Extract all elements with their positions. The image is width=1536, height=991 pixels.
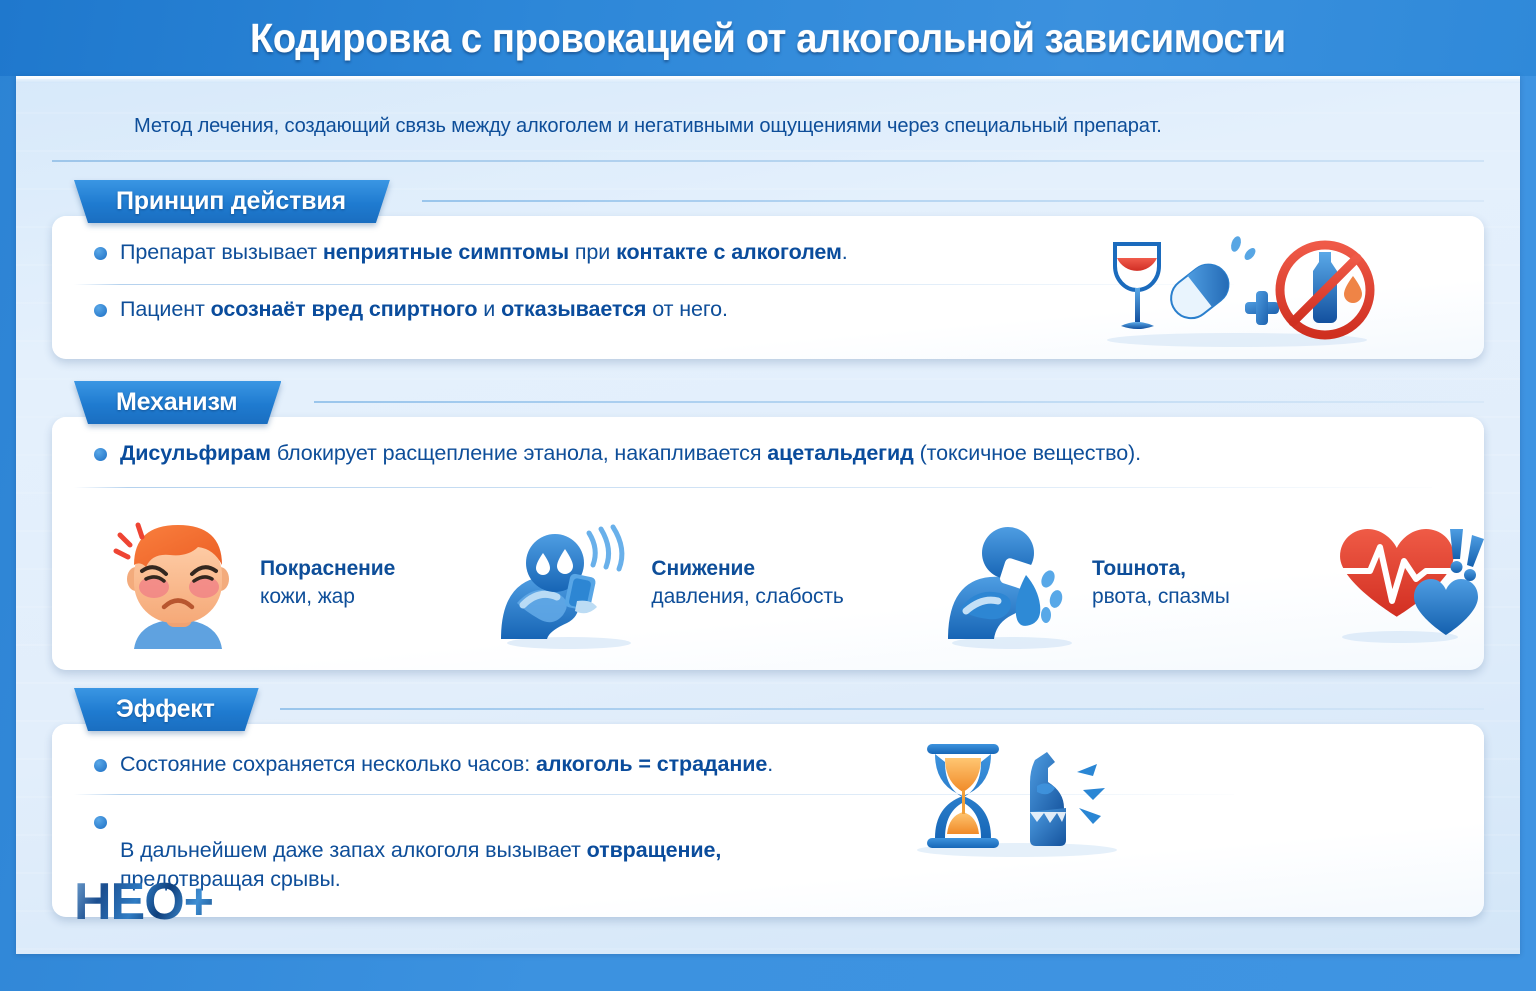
symptom-nausea: Тошнота, рвота, спазмы (942, 517, 1230, 649)
card-principle: Препарат вызывает неприятные симптомы пр… (52, 216, 1484, 359)
principle-icon-group (1087, 230, 1377, 350)
bullet-dot-icon (94, 304, 107, 317)
ribbon-effect: Эффект (74, 688, 1484, 731)
wine-glass-icon (1115, 244, 1159, 329)
page-title: Кодировка с провокацией от алкогольной з… (250, 15, 1286, 62)
plus-icon (1245, 291, 1279, 325)
infographic-poster: Кодировка с провокацией от алкогольной з… (0, 0, 1536, 991)
dizzy-person-icon (493, 517, 641, 649)
symptom-heart (1328, 517, 1484, 649)
section-mechanism: Механизм Дисульфирам блокирует расщеплен… (52, 381, 1484, 670)
bullet-divider (74, 487, 1432, 488)
sparkle-icon (1229, 235, 1257, 262)
section-principle: Принцип действия Препарат вызывает непри… (52, 180, 1484, 359)
symptom-label-dizzy: Снижение давления, слабость (651, 555, 843, 610)
broken-bottle-icon (1030, 752, 1105, 846)
bullet-mechanism-1: Дисульфирам блокирует расщепление этанол… (120, 439, 1141, 468)
hourglass-icon (927, 744, 999, 848)
section-effect: Эффект Состояние сохраняется несколько ч… (52, 688, 1484, 917)
bullet-row: В дальнейшем даже запах алкоголя вызывае… (94, 807, 994, 895)
card-mechanism: Дисульфирам блокирует расщепление этанол… (52, 417, 1484, 670)
ribbon-principle: Принцип действия (74, 180, 1484, 223)
bullet-row: Дисульфирам блокирует расщепление этанол… (94, 439, 1394, 483)
card-effect: Состояние сохраняется несколько часов: а… (52, 724, 1484, 917)
symptom-label-flushed: Покраснение кожи, жар (260, 555, 395, 610)
bullet-row: Состояние сохраняется несколько часов: а… (94, 750, 994, 794)
ribbon-mechanism: Механизм (74, 381, 1484, 424)
bullet-dot-icon (94, 448, 107, 461)
brand-logo: НЕО+ (74, 872, 213, 932)
flushed-face-icon (108, 517, 250, 649)
bullet-row: Пациент осознаёт вред спиртного и отказы… (94, 295, 1034, 341)
symptom-dizzy: Снижение давления, слабость (493, 517, 843, 649)
bullet-principle-1: Препарат вызывает неприятные симптомы пр… (120, 238, 848, 267)
section-title-effect: Эффект (74, 688, 259, 731)
symptom-flushed: Покраснение кожи, жар (108, 517, 395, 649)
content-panel: Метод лечения, создающий связь между алк… (16, 76, 1520, 954)
no-alcohol-icon (1280, 245, 1370, 335)
logo-text: НЕО+ (74, 872, 213, 932)
effect-icon-group (907, 738, 1137, 858)
pill-capsule-icon (1163, 257, 1236, 327)
exclamation-icon (1450, 529, 1484, 581)
bullet-divider (74, 284, 1234, 285)
section-title-principle: Принцип действия (74, 180, 390, 223)
intro-divider (52, 160, 1484, 162)
symptom-row: Покраснение кожи, жар (82, 513, 1484, 653)
vomiting-person-icon (942, 517, 1082, 649)
poster-header: Кодировка с провокацией от алкогольной з… (0, 0, 1536, 76)
bullet-dot-icon (94, 759, 107, 772)
heartbeat-alert-icon (1328, 517, 1484, 649)
intro-text: Метод лечения, создающий связь между алк… (134, 114, 1428, 138)
bullet-effect-1: Состояние сохраняется несколько часов: а… (120, 750, 773, 779)
bullet-row: Препарат вызывает неприятные симптомы пр… (94, 238, 1034, 284)
bullet-dot-icon (94, 247, 107, 260)
bullet-dot-icon (94, 816, 107, 829)
bullet-principle-2: Пациент осознаёт вред спиртного и отказы… (120, 295, 728, 324)
wine-pill-noalcohol-illustration (1087, 230, 1377, 350)
hourglass-bottle-illustration (907, 738, 1137, 858)
symptom-label-nausea: Тошнота, рвота, спазмы (1092, 555, 1230, 610)
section-title-mechanism: Механизм (74, 381, 281, 424)
